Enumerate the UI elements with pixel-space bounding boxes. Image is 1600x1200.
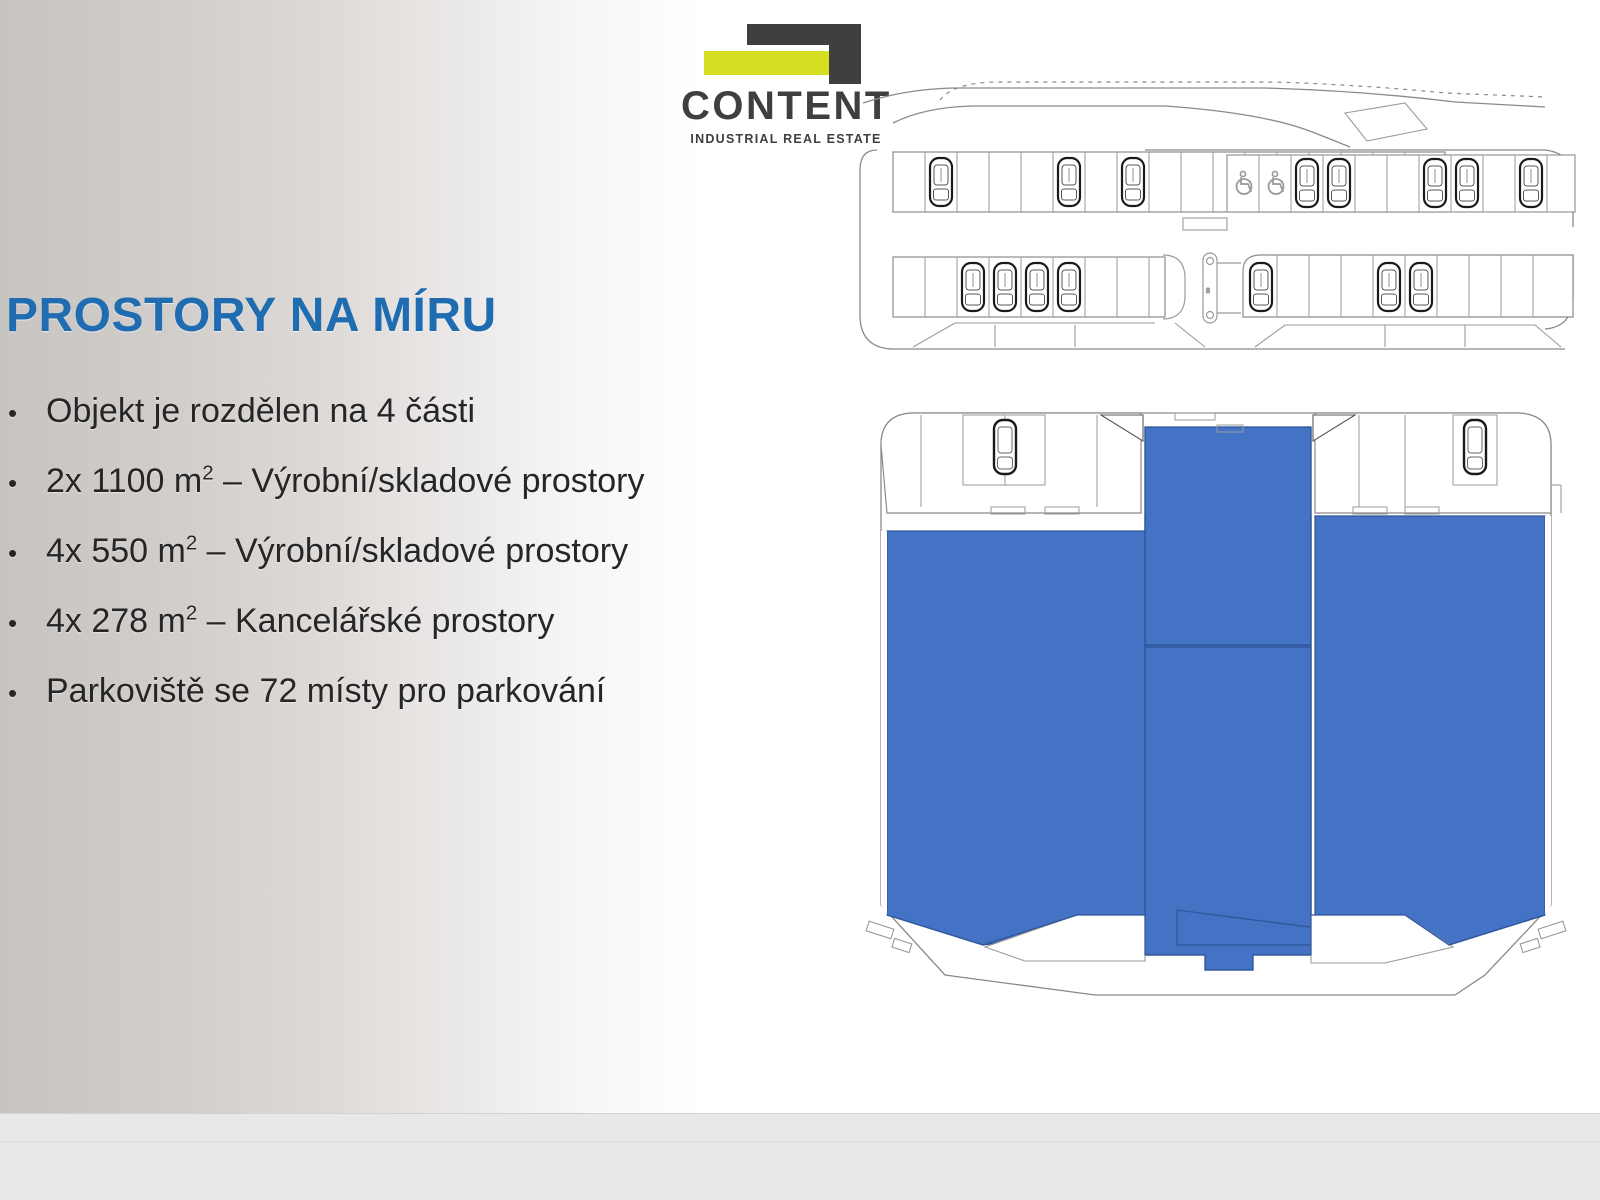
list-item-label: 4x 278 m2 – Kancelářské prostory xyxy=(46,602,554,641)
car-icon xyxy=(1250,263,1272,311)
list-item: • 2x 1100 m2 – Výrobní/skladové prostory xyxy=(8,462,798,532)
page-title: PROSTORY NA MÍRU xyxy=(6,288,497,343)
parking-row-lower-left xyxy=(893,257,1165,317)
bullet-marker-icon: • xyxy=(8,540,46,566)
parking-row-lower-right xyxy=(1243,255,1573,317)
bullet-list: • Objekt je rozdělen na 4 části • 2x 110… xyxy=(8,392,798,742)
car-icon xyxy=(1520,159,1542,207)
car-icon xyxy=(1378,263,1400,311)
bullet-marker-icon: • xyxy=(8,610,46,636)
bullet-marker-icon: • xyxy=(8,680,46,706)
car-icon xyxy=(1464,420,1486,474)
car-icon xyxy=(994,263,1016,311)
footer-band xyxy=(0,1113,1600,1200)
list-item-label: Parkoviště se 72 místy pro parkování xyxy=(46,672,605,711)
bottom-curb xyxy=(913,323,1561,347)
unit-level-floorplan xyxy=(845,385,1585,1010)
parking-level-floorplan: 8 xyxy=(845,55,1585,365)
logo-dark-bar-icon xyxy=(747,24,861,45)
car-icon xyxy=(994,420,1016,474)
parking-row-upper-right xyxy=(1223,152,1575,212)
car-icon xyxy=(962,263,984,311)
car-icon xyxy=(1026,263,1048,311)
list-item: • Parkoviště se 72 místy pro parkování xyxy=(8,672,798,742)
list-item: • 4x 550 m2 – Výrobní/skladové prostory xyxy=(8,532,798,602)
bullet-marker-icon: • xyxy=(8,470,46,496)
stair-core: 8 xyxy=(1163,253,1241,323)
list-item-label: 4x 550 m2 – Výrobní/skladové prostory xyxy=(46,532,628,571)
list-item-label: 2x 1100 m2 – Výrobní/skladové prostory xyxy=(46,462,644,501)
car-icon xyxy=(930,158,952,206)
car-icon xyxy=(1410,263,1432,311)
car-icon xyxy=(1058,158,1080,206)
unit-center-upper-highlight[interactable] xyxy=(1145,427,1311,645)
footer-divider xyxy=(0,1141,1600,1142)
car-icon xyxy=(1296,159,1318,207)
car-icon xyxy=(1424,159,1446,207)
car-icon xyxy=(1122,158,1144,206)
list-item: • Objekt je rozdělen na 4 části xyxy=(8,392,798,462)
bullet-marker-icon: • xyxy=(8,400,46,426)
car-icon xyxy=(1456,159,1478,207)
list-item: • 4x 278 m2 – Kancelářské prostory xyxy=(8,602,798,672)
list-item-label: Objekt je rozdělen na 4 části xyxy=(46,392,475,431)
logo-yellow-bar-icon xyxy=(704,51,829,75)
car-icon xyxy=(1058,263,1080,311)
car-icon xyxy=(1328,159,1350,207)
slide-canvas: CONTENT INDUSTRIAL REAL ESTATE PROSTORY … xyxy=(0,0,1600,1200)
svg-text:8: 8 xyxy=(1206,288,1210,295)
